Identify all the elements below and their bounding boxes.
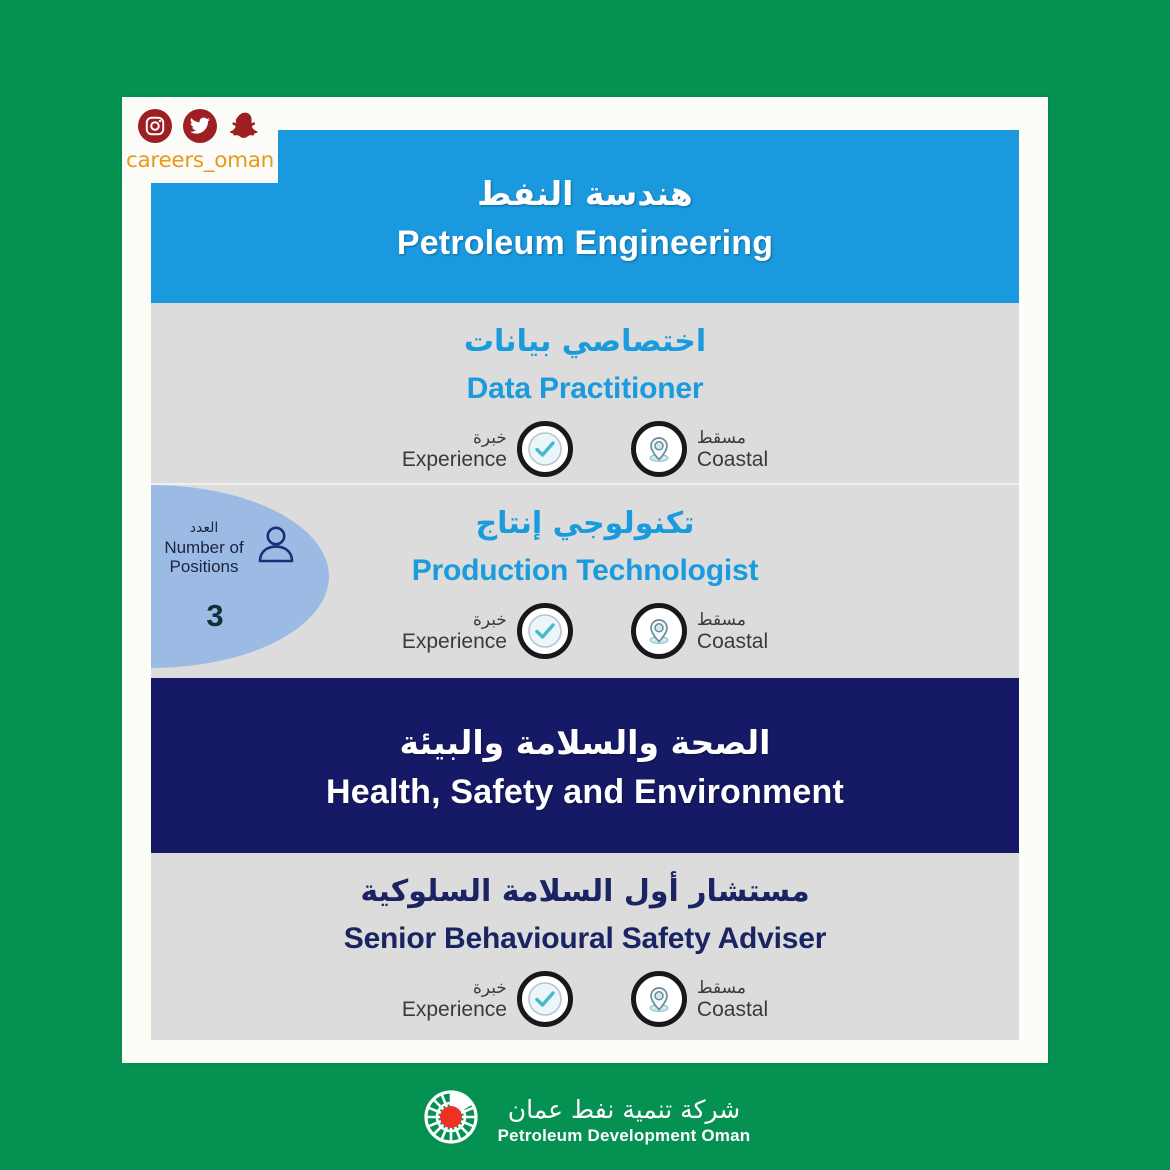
job-title-english: Senior Behavioural Safety Adviser — [151, 917, 1019, 961]
job-experience: خبرة Experience — [402, 421, 573, 477]
job-location-label-arabic: مسقط — [697, 610, 768, 631]
location-pin-icon — [631, 421, 687, 477]
job-listing-panel: هندسة النفط Petroleum Engineering اختصاص… — [151, 130, 1019, 1040]
section-header-petroleum-engineering: هندسة النفط Petroleum Engineering — [151, 130, 1019, 303]
job-location-text: مسقط Coastal — [697, 428, 768, 470]
job-experience-label-english: Experience — [402, 999, 507, 1020]
job-location: مسقط Coastal — [631, 603, 768, 659]
location-pin-icon — [631, 971, 687, 1027]
job-meta: خبرة Experience — [151, 971, 1019, 1027]
footer-company-name-english: Petroleum Development Oman — [498, 1126, 751, 1146]
job-experience-label-arabic: خبرة — [402, 978, 507, 999]
number-of-positions-top: العدد Number of Positions — [164, 519, 299, 576]
job-experience-text: خبرة Experience — [402, 978, 507, 1020]
job-location-text: مسقط Coastal — [697, 610, 768, 652]
job-experience-text: خبرة Experience — [402, 428, 507, 470]
section-title-arabic: الصحة والسلامة والبيئة — [400, 717, 771, 769]
section-title-arabic: هندسة النفط — [477, 168, 693, 220]
social-handle-badge: careers_oman — [122, 100, 278, 183]
check-circle-icon — [517, 971, 573, 1027]
instagram-icon[interactable] — [138, 109, 172, 143]
footer-company-name-arabic: شركة تنمية نفط عمان — [498, 1094, 751, 1126]
job-location-text: مسقط Coastal — [697, 978, 768, 1020]
job-location-label-arabic: مسقط — [697, 978, 768, 999]
job-title-arabic: اختصاصي بيانات — [151, 317, 1019, 367]
section-title-english: Petroleum Engineering — [397, 220, 773, 266]
job-experience: خبرة Experience — [402, 603, 573, 659]
job-location: مسقط Coastal — [631, 421, 768, 477]
footer-logo: شركة تنمية نفط عمان Petroleum Developmen… — [0, 1086, 1170, 1153]
social-icons — [122, 106, 278, 146]
person-icon — [252, 521, 300, 574]
job-location: مسقط Coastal — [631, 971, 768, 1027]
number-of-positions-labels: العدد Number of Positions — [164, 519, 243, 576]
number-of-positions-label-english-line2: Positions — [164, 557, 243, 576]
number-of-positions-label-arabic: العدد — [164, 519, 243, 538]
job-title-arabic: مستشار أول السلامة السلوكية — [151, 867, 1019, 917]
job-location-label-english: Coastal — [697, 999, 768, 1020]
job-listing-card: هندسة النفط Petroleum Engineering اختصاص… — [122, 97, 1048, 1063]
job-location-label-english: Coastal — [697, 631, 768, 652]
job-row-production-technologist[interactable]: العدد Number of Positions 3 تكنولوجي إنت… — [151, 483, 1019, 668]
number-of-positions-count: 3 — [206, 598, 223, 634]
job-experience-label-english: Experience — [402, 631, 507, 652]
job-experience-label-arabic: خبرة — [402, 610, 507, 631]
check-circle-icon — [517, 603, 573, 659]
pdo-sun-logo-icon — [420, 1086, 482, 1153]
job-experience-label-english: Experience — [402, 449, 507, 470]
section-header-health-safety-environment: الصحة والسلامة والبيئة Health, Safety an… — [151, 678, 1019, 853]
job-location-label-arabic: مسقط — [697, 428, 768, 449]
job-experience-text: خبرة Experience — [402, 610, 507, 652]
job-title-english: Data Practitioner — [151, 367, 1019, 411]
job-location-label-english: Coastal — [697, 449, 768, 470]
job-row-senior-behavioural-safety-adviser[interactable]: مستشار أول السلامة السلوكية Senior Behav… — [151, 853, 1019, 1040]
check-circle-icon — [517, 421, 573, 477]
job-row-data-practitioner[interactable]: اختصاصي بيانات Data Practitioner خبرة Ex — [151, 303, 1019, 483]
number-of-positions-label-english-line1: Number of — [164, 538, 243, 557]
job-experience-label-arabic: خبرة — [402, 428, 507, 449]
snapchat-icon[interactable] — [228, 109, 262, 143]
section-title-english: Health, Safety and Environment — [326, 769, 844, 815]
job-body: مستشار أول السلامة السلوكية Senior Behav… — [151, 853, 1019, 1027]
twitter-icon[interactable] — [183, 109, 217, 143]
job-body: اختصاصي بيانات Data Practitioner خبرة Ex — [151, 303, 1019, 477]
job-meta: خبرة Experience — [151, 421, 1019, 477]
job-experience: خبرة Experience — [402, 971, 573, 1027]
footer-company-name: شركة تنمية نفط عمان Petroleum Developmen… — [498, 1094, 751, 1146]
social-handle-text: careers_oman — [122, 146, 278, 176]
location-pin-icon — [631, 603, 687, 659]
